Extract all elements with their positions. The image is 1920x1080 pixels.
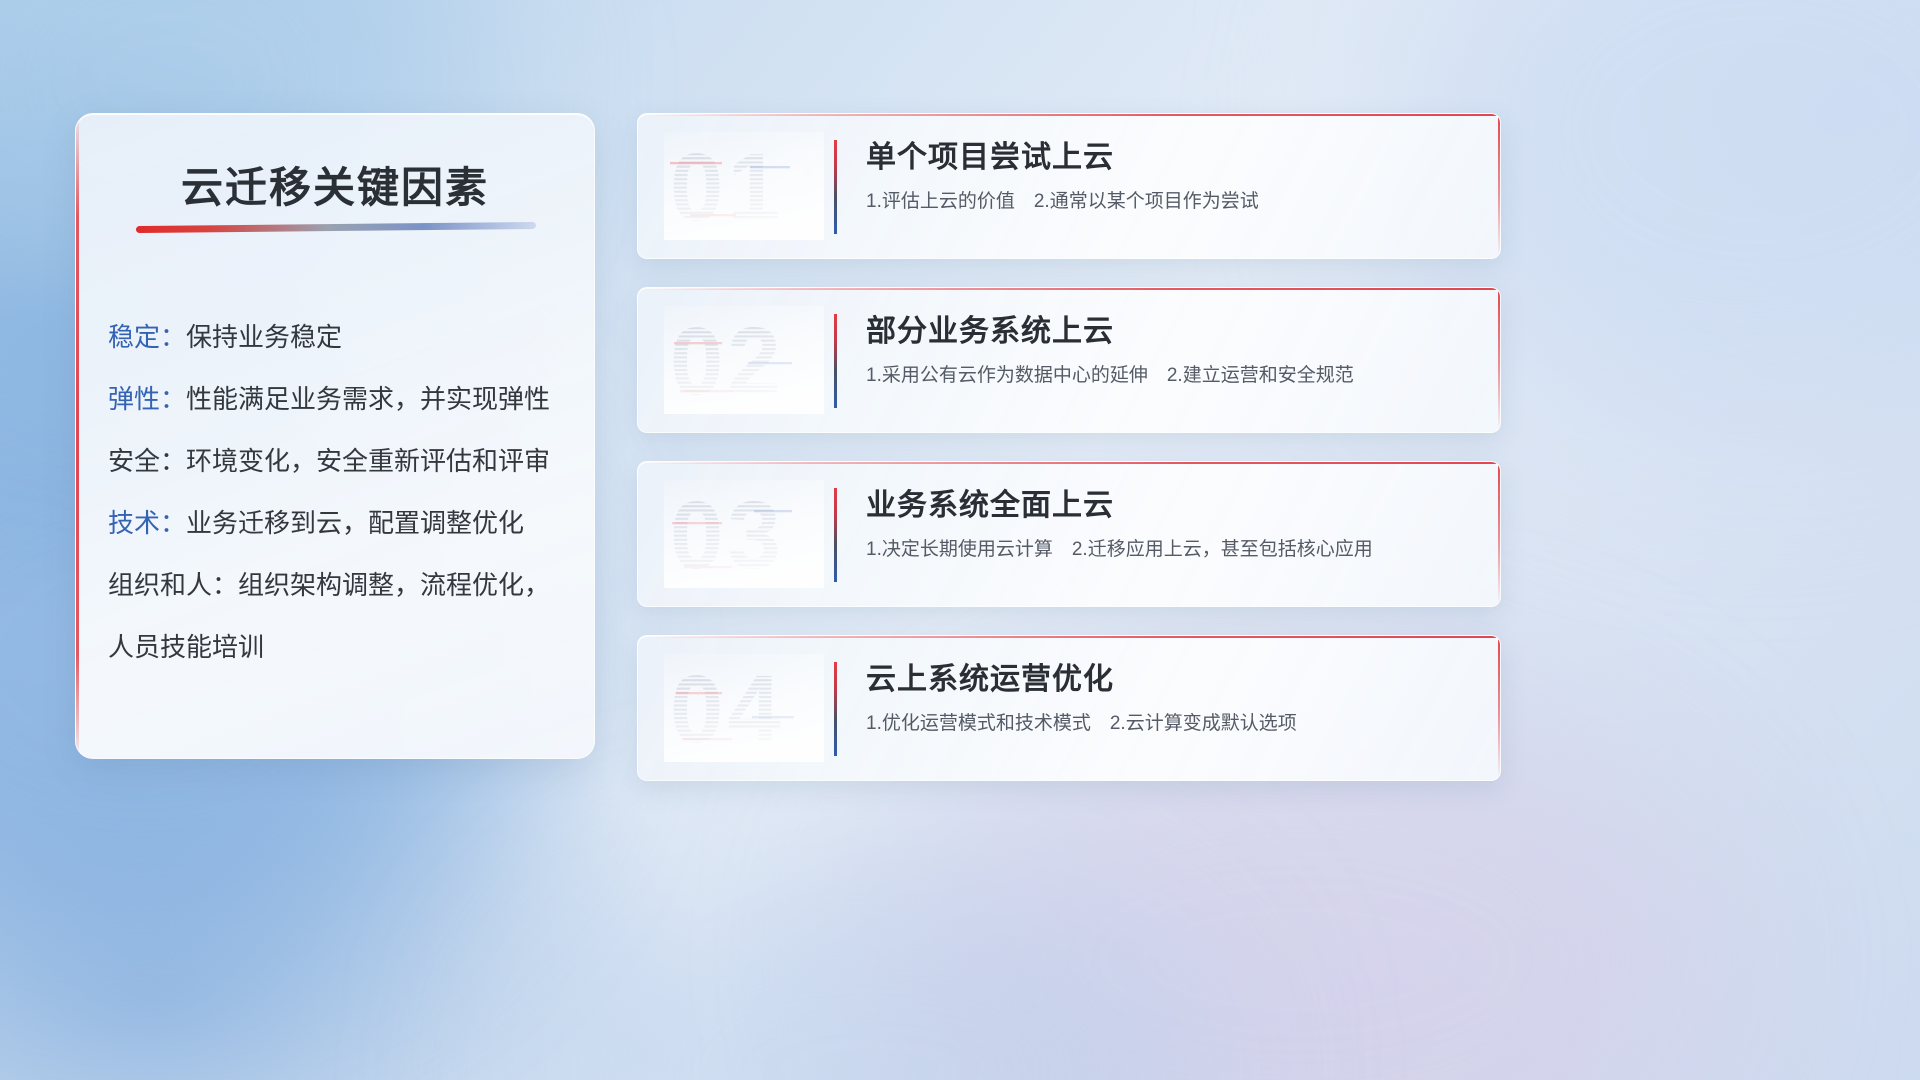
factor-label: 技术： [108,508,186,538]
card-title: 业务系统全面上云 [866,484,1474,528]
stage-number-03-icon: 03 [664,480,824,588]
stage-number-04-icon: 04 [664,654,824,762]
factor-label: 组织和人： [108,570,238,600]
card-subtitle: 1.采用公有云作为数据中心的延伸 2.建立运营和安全规范 [866,362,1474,390]
card-subtitle: 1.决定长期使用云计算 2.迁移应用上云，甚至包括核心应用 [866,536,1474,564]
factor-text: 保持业务稳定 [186,322,342,352]
title-underline-decoration [136,222,536,233]
card-body: 云上系统运营优化 1.优化运营模式和技术模式 2.云计算变成默认选项 [866,658,1474,738]
stage-number-01-icon: 01 [664,132,824,240]
card-body: 部分业务系统上云 1.采用公有云作为数据中心的延伸 2.建立运营和安全规范 [866,310,1474,390]
card-accent-bar [834,488,837,582]
card-title: 云上系统运营优化 [866,658,1474,702]
card-body: 单个项目尝试上云 1.评估上云的价值 2.通常以某个项目作为尝试 [866,136,1474,216]
factor-text: 组织架构调整，流程优化， [238,570,550,600]
card-title: 单个项目尝试上云 [866,136,1474,180]
list-item: 稳定：保持业务稳定 [108,306,570,368]
factor-label: 稳定： [108,322,186,352]
list-item: 安全：环境变化，安全重新评估和评审 [108,430,570,492]
factor-text: 人员技能培训 [108,632,264,662]
factor-text: 业务迁移到云，配置调整优化 [186,508,524,538]
stage-card[interactable]: 02 部分业务系统上云 1.采用公有云作为数据中心的延伸 2.建立运营和安全规范 [637,287,1501,433]
card-subtitle: 1.评估上云的价值 2.通常以某个项目作为尝试 [866,188,1474,216]
list-item: 人员技能培训 [108,616,570,678]
stage-card[interactable]: 01 单个项目尝试上云 1.评估上云的价值 2.通常以某个项目作为尝试 [637,113,1501,259]
page-title: 云迁移关键因素 [76,154,594,215]
factor-label: 安全： [108,446,186,476]
factor-list: 稳定：保持业务稳定 弹性：性能满足业务需求，并实现弹性 安全：环境变化，安全重新… [108,306,570,678]
factor-text: 性能满足业务需求，并实现弹性 [186,384,550,414]
stage-card-list: 01 单个项目尝试上云 1.评估上云的价值 2.通常以某个项目作为尝试 [637,113,1501,809]
list-item: 弹性：性能满足业务需求，并实现弹性 [108,368,570,430]
stage-card[interactable]: 03 业务系统全面上云 1.决定长期使用云计算 2.迁移应用上云，甚至包括核心应… [637,461,1501,607]
background-blob [520,860,1220,1080]
slide-canvas: 云迁移关键因素 稳定：保持业务稳定 弹性：性能满足业务需求，并实现弹性 安全：环… [0,0,1920,1080]
key-factors-panel: 云迁移关键因素 稳定：保持业务稳定 弹性：性能满足业务需求，并实现弹性 安全：环… [75,113,595,759]
list-item: 组织和人：组织架构调整，流程优化， [108,554,570,616]
card-accent-bar [834,662,837,756]
card-body: 业务系统全面上云 1.决定长期使用云计算 2.迁移应用上云，甚至包括核心应用 [866,484,1474,564]
list-item: 技术：业务迁移到云，配置调整优化 [108,492,570,554]
card-title: 部分业务系统上云 [866,310,1474,354]
factor-text: 环境变化，安全重新评估和评审 [186,446,550,476]
card-subtitle: 1.优化运营模式和技术模式 2.云计算变成默认选项 [866,710,1474,738]
factor-label: 弹性： [108,384,186,414]
stage-number-02-icon: 02 [664,306,824,414]
card-accent-bar [834,314,837,408]
card-accent-bar [834,140,837,234]
stage-card[interactable]: 04 云上系统运营优化 1.优化运营模式和技术模式 2.云计算变成默认选项 [637,635,1501,781]
